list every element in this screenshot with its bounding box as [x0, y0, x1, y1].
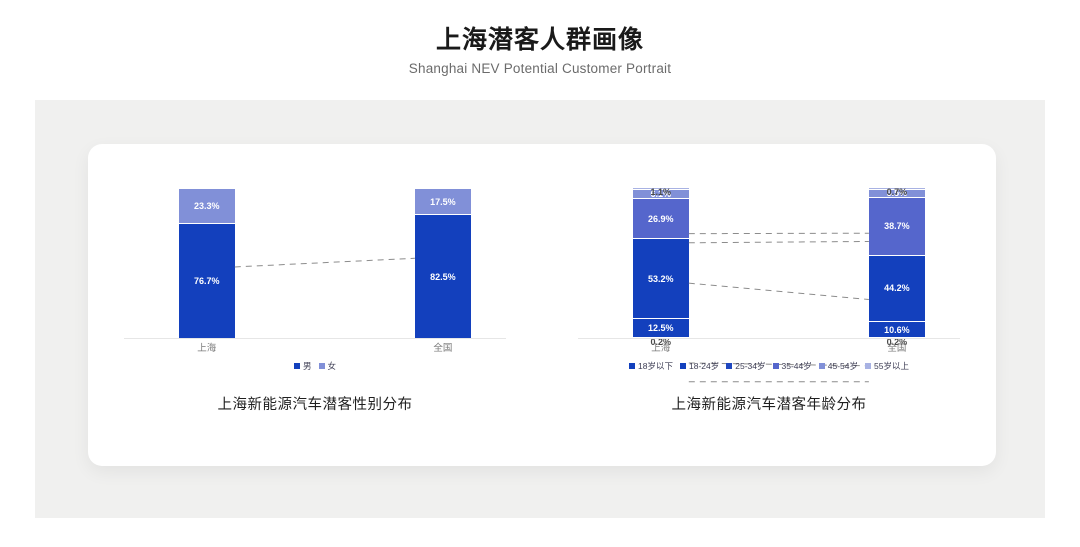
legend-swatch-icon — [819, 363, 825, 369]
segment-value-label: 23.3% — [194, 201, 220, 211]
legend-item[interactable]: 45-54岁 — [819, 360, 858, 372]
legend-swatch-icon — [865, 363, 871, 369]
legend-label: 35-44岁 — [782, 360, 812, 372]
legend-item[interactable]: 女 — [319, 360, 337, 372]
segment-value-label: 0.7% — [869, 187, 925, 197]
segment-value-label: 26.9% — [648, 214, 674, 224]
bar-segment: 17.5% — [415, 188, 471, 214]
legend-swatch-icon — [773, 363, 779, 369]
chart-card: 76.7%23.3%82.5%17.5%上海全国男女上海新能源汽车潜客性别分布0… — [88, 144, 996, 466]
x-axis-label-上海: 上海 — [162, 342, 252, 356]
page-subtitle: Shanghai NEV Potential Customer Portrait — [0, 59, 1080, 79]
legend-label: 25-34岁 — [735, 360, 765, 372]
page-root: 上海潜客人群画像 Shanghai NEV Potential Customer… — [0, 0, 1080, 547]
legend-item[interactable]: 18岁以下 — [629, 360, 673, 372]
legend-item[interactable]: 55岁以上 — [865, 360, 909, 372]
chart-caption: 上海新能源汽车潜客性别分布 — [88, 394, 542, 416]
legend-label: 男 — [303, 360, 312, 372]
legend-item[interactable]: 35-44岁 — [773, 360, 812, 372]
chart-caption: 上海新能源汽车潜客年龄分布 — [542, 394, 996, 416]
segment-value-label: 38.7% — [884, 221, 910, 231]
legend-label: 18岁以下 — [638, 360, 673, 372]
legend-swatch-icon — [680, 363, 686, 369]
bar-segment: 1.1% — [633, 187, 689, 189]
charts-container: 76.7%23.3%82.5%17.5%上海全国男女上海新能源汽车潜客性别分布0… — [88, 144, 996, 466]
bar-segment: 23.3% — [179, 188, 235, 223]
legend-swatch-icon — [319, 363, 325, 369]
plot-area: 0.2%12.5%53.2%26.9%6.1%1.1%0.2%10.6%44.2… — [542, 188, 996, 338]
legend-label: 女 — [328, 360, 337, 372]
x-axis-line — [578, 338, 959, 339]
chart-legend: 男女 — [88, 360, 542, 372]
legend-swatch-icon — [294, 363, 300, 369]
page-title: 上海潜客人群画像 — [0, 24, 1080, 56]
page-header: 上海潜客人群画像 Shanghai NEV Potential Customer… — [0, 24, 1080, 79]
chart-block-gender: 76.7%23.3%82.5%17.5%上海全国男女上海新能源汽车潜客性别分布 — [88, 144, 542, 466]
legend-label: 18-24岁 — [689, 360, 719, 372]
plot-area: 76.7%23.3%82.5%17.5% — [88, 188, 542, 338]
segment-value-label: 17.5% — [430, 197, 456, 207]
legend-item[interactable]: 18-24岁 — [680, 360, 719, 372]
x-axis-label-上海: 上海 — [616, 342, 706, 356]
legend-label: 55岁以上 — [874, 360, 909, 372]
legend-item[interactable]: 25-34岁 — [726, 360, 765, 372]
legend-swatch-icon — [726, 363, 732, 369]
bar-segment: 0.7% — [869, 187, 925, 188]
chart-legend: 18岁以下18-24岁25-34岁35-44岁45-54岁55岁以上 — [542, 360, 996, 372]
x-axis-line — [124, 338, 505, 339]
x-axis-label-全国: 全国 — [398, 342, 488, 356]
legend-label: 45-54岁 — [828, 360, 858, 372]
chart-block-age: 0.2%12.5%53.2%26.9%6.1%1.1%0.2%10.6%44.2… — [542, 144, 996, 466]
x-axis-label-全国: 全国 — [852, 342, 942, 356]
legend-item[interactable]: 男 — [294, 360, 312, 372]
legend-swatch-icon — [629, 363, 635, 369]
segment-value-label: 1.1% — [633, 187, 689, 197]
